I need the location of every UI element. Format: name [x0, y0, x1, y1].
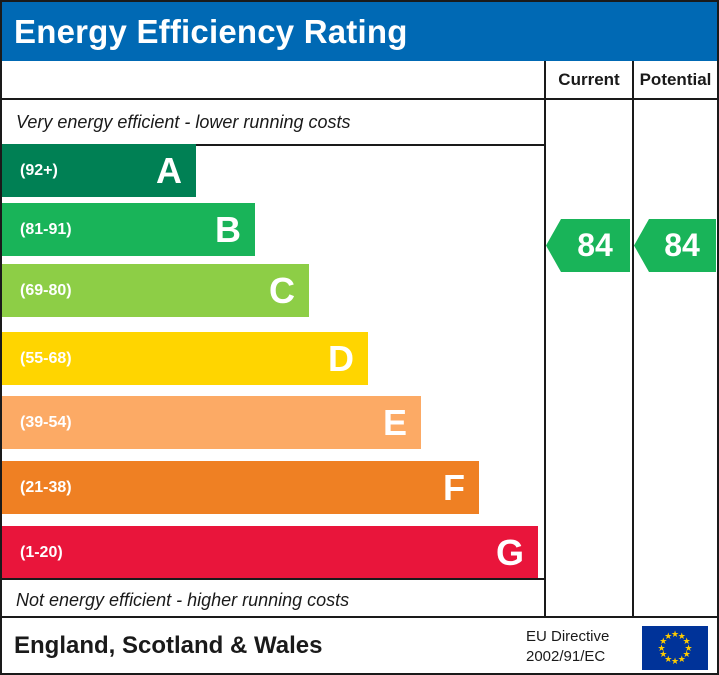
band-a: (92+) A	[2, 144, 196, 197]
eu-flag-icon: ★★★★★★★★★★★★	[642, 626, 708, 670]
energy-efficiency-rating-chart: Energy Efficiency Rating Current Potenti…	[0, 0, 719, 675]
page-title: Energy Efficiency Rating	[14, 15, 408, 48]
footer-region-label: England, Scotland & Wales	[14, 632, 322, 660]
chart-header: Energy Efficiency Rating	[2, 2, 717, 61]
band-a-letter: A	[156, 153, 182, 189]
band-g-letter: G	[496, 535, 524, 571]
eu-star-icon: ★	[664, 632, 673, 641]
potential-rating-value: 84	[634, 219, 716, 272]
band-g: (1-20) G	[2, 526, 538, 579]
band-f-letter: F	[443, 470, 465, 506]
band-a-range: (92+)	[20, 163, 58, 179]
caption-top: Very energy efficient - lower running co…	[16, 112, 351, 133]
column-header-potential: Potential	[632, 61, 717, 98]
divider-current	[544, 100, 546, 616]
eu-directive-line2: 2002/91/EC	[526, 647, 609, 667]
band-d-range: (55-68)	[20, 351, 72, 367]
band-f-range: (21-38)	[20, 480, 72, 496]
band-g-range: (1-20)	[20, 545, 63, 561]
current-rating-value: 84	[546, 219, 630, 272]
band-c-range: (69-80)	[20, 283, 72, 299]
eu-directive-text: EU Directive 2002/91/EC	[526, 627, 609, 666]
band-d-letter: D	[328, 341, 354, 377]
column-header-current: Current	[544, 61, 632, 98]
band-b: (81-91) B	[2, 203, 255, 256]
band-b-range: (81-91)	[20, 222, 72, 238]
band-e-letter: E	[383, 405, 407, 441]
band-c-letter: C	[269, 273, 295, 309]
caption-rule-bottom	[2, 578, 544, 580]
chart-body: Very energy efficient - lower running co…	[2, 100, 717, 616]
band-d: (55-68) D	[2, 332, 368, 385]
divider-potential	[632, 100, 634, 616]
caption-bottom: Not energy efficient - higher running co…	[16, 590, 349, 611]
band-list: (92+) A (81-91) B (69-80) C (55-68) D (3…	[2, 144, 544, 578]
eu-directive-line1: EU Directive	[526, 627, 609, 647]
band-c: (69-80) C	[2, 264, 309, 317]
column-header-row: Current Potential	[2, 61, 717, 100]
band-e-range: (39-54)	[20, 415, 72, 431]
band-f: (21-38) F	[2, 461, 479, 514]
band-b-letter: B	[215, 212, 241, 248]
chart-footer: England, Scotland & Wales EU Directive 2…	[2, 616, 717, 673]
band-e: (39-54) E	[2, 396, 421, 449]
